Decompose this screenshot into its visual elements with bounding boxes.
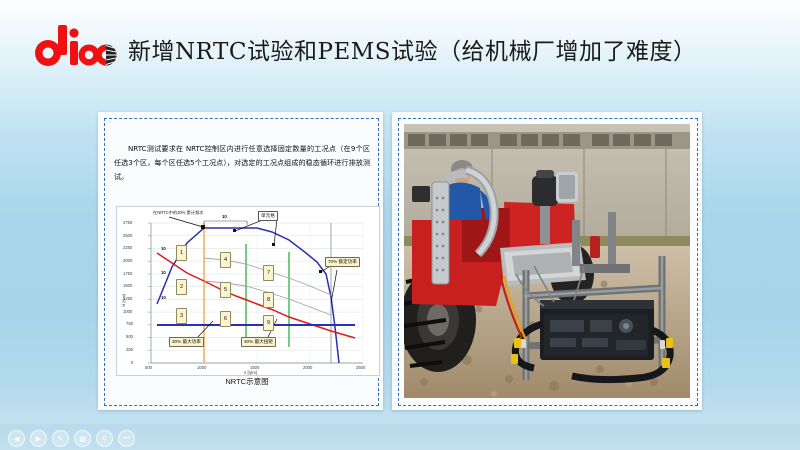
pems-tractor-photo <box>404 124 690 398</box>
nrtc-cell-4[interactable]: 4 <box>220 252 231 268</box>
next-slide-button[interactable]: ▶ <box>30 430 47 447</box>
y-tick-250: 250 <box>126 347 133 352</box>
tick-marker-middle: 10 <box>161 270 166 275</box>
slide-header: 新增NRTC试验和PEMS试验（给机械厂增加了难度） <box>0 0 800 92</box>
max-torque-label: 30% 最大扭矩 <box>241 337 276 347</box>
y-tick-1500: 1500 <box>123 283 132 288</box>
tick-marker-top: 10 <box>222 214 227 219</box>
y-tick-750: 750 <box>126 321 133 326</box>
nrtc-cell-9[interactable]: 9 <box>263 315 274 331</box>
nrtc-cell-8[interactable]: 8 <box>263 292 274 308</box>
y-tick-500: 500 <box>126 334 133 339</box>
nrtc-cell-7[interactable]: 7 <box>263 265 274 281</box>
y-axis-label: M [Nm] <box>121 294 126 307</box>
pen-tool-button[interactable]: ✎ <box>52 430 69 447</box>
y-tick-1750: 1750 <box>123 271 132 276</box>
nrtc-cell-1[interactable]: 1 <box>176 245 187 261</box>
tick-marker-upper: 10 <box>161 246 166 251</box>
nrtc-cell-3[interactable]: 3 <box>176 308 187 324</box>
previous-slide-button[interactable]: ◀ <box>8 430 25 447</box>
nrtc-description-text: NRTC测试要求在 NRTC控制区内进行任意选择固定数量的工况点（在9个区任选3… <box>114 142 370 184</box>
max-power-label: 30% 最大功率 <box>169 337 204 347</box>
grid-view-button[interactable]: ▦ <box>74 430 91 447</box>
chart-caption: NRTC示意图 <box>116 376 378 387</box>
x-tick-2000: 2000 <box>303 365 312 370</box>
more-options-button[interactable]: ••• <box>118 430 135 447</box>
x-tick-500: 500 <box>145 365 152 370</box>
cumulative-frequency-note: 在NRTC中的30% 累计频次 <box>153 210 203 216</box>
tick-marker-lower: 10 <box>161 295 166 300</box>
y-tick-2250: 2250 <box>123 245 132 250</box>
x-tick-1000: 1000 <box>197 365 206 370</box>
page-title: 新增NRTC试验和PEMS试验（给机械厂增加了难度） <box>128 30 728 74</box>
x-axis-label: n [rpm] <box>244 370 257 375</box>
slideshow-toolbar: ◀ ▶ ✎ ▦ ⚲ ••• <box>0 424 800 450</box>
nrtc-cell-5[interactable]: 5 <box>220 282 231 298</box>
nrtc-chart: 0 250 500 750 1000 1250 1500 1750 2000 2… <box>116 206 380 376</box>
y-tick-2500: 2500 <box>123 233 132 238</box>
zoom-button[interactable]: ⚲ <box>96 430 113 447</box>
unit-cell-label: 单元格 <box>258 211 278 221</box>
y-tick-2750: 2750 <box>123 220 132 225</box>
nrtc-cell-6[interactable]: 6 <box>220 311 231 327</box>
dioo-logo <box>34 25 120 71</box>
rated-power-label: 70% 额定功率 <box>325 257 360 267</box>
y-tick-0: 0 <box>131 360 133 365</box>
nrtc-cell-2[interactable]: 2 <box>176 279 187 295</box>
y-tick-2000: 2000 <box>123 258 132 263</box>
y-tick-1000: 1000 <box>123 309 132 314</box>
x-tick-2500: 2500 <box>356 365 365 370</box>
